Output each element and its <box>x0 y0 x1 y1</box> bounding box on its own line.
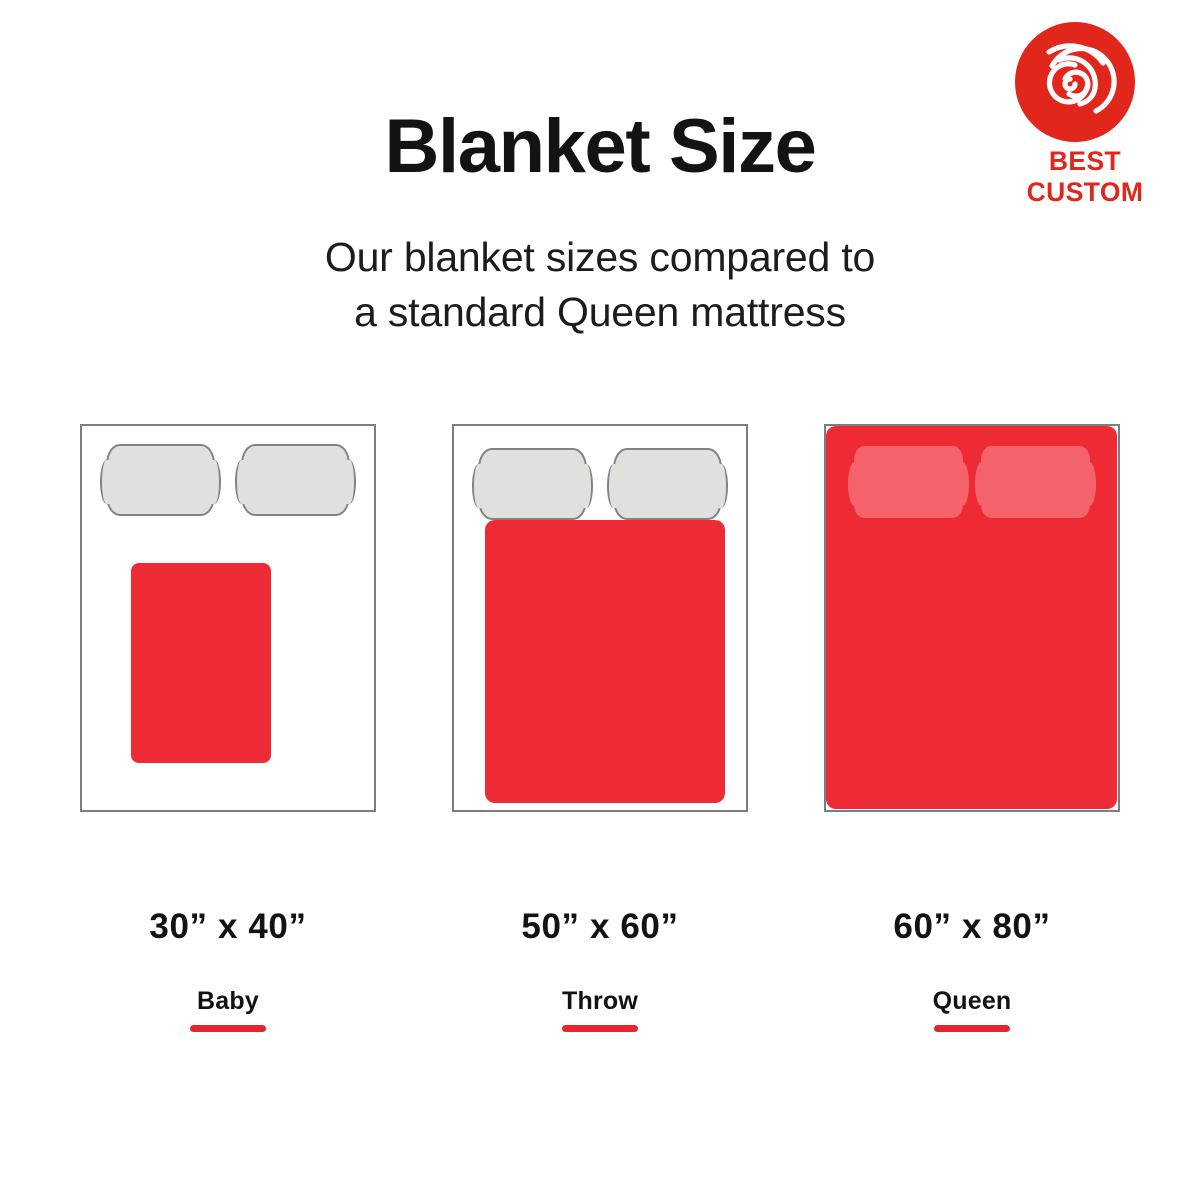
size-name-label: Baby <box>80 986 376 1016</box>
bed-diagram-throw <box>452 424 748 812</box>
pillow-left <box>478 448 587 520</box>
size-dimensions-label: 60” x 80” <box>824 906 1120 948</box>
accent-underline <box>562 1025 638 1032</box>
accent-underline <box>934 1025 1010 1032</box>
subtitle-line-1: Our blanket sizes compared to <box>0 230 1200 285</box>
bed-diagram-baby <box>80 424 376 812</box>
pillow-left <box>854 446 963 518</box>
pillow-right <box>241 444 350 516</box>
blanket-swatch-baby <box>131 563 271 763</box>
mattress-outline <box>824 424 1120 812</box>
pillow-right <box>981 446 1090 518</box>
pillow-left <box>106 444 215 516</box>
accent-underline <box>190 1025 266 1032</box>
blanket-swatch-throw <box>485 520 725 803</box>
mattress-outline <box>80 424 376 812</box>
mattress-outline <box>452 424 748 812</box>
subtitle-line-2: a standard Queen mattress <box>0 285 1200 340</box>
infographic-canvas: BEST CUSTOM Blanket Size Our blanket siz… <box>0 0 1200 1200</box>
bed-diagram-queen <box>824 424 1120 812</box>
caption-queen: 60” x 80” Queen <box>824 906 1120 1032</box>
size-name-label: Queen <box>824 986 1120 1016</box>
size-dimensions-label: 50” x 60” <box>452 906 748 948</box>
page-subtitle: Our blanket sizes compared to a standard… <box>0 230 1200 340</box>
page-title: Blanket Size <box>0 104 1200 190</box>
pillow-right <box>613 448 722 520</box>
size-name-label: Throw <box>452 986 748 1016</box>
caption-throw: 50” x 60” Throw <box>452 906 748 1032</box>
size-dimensions-label: 30” x 40” <box>80 906 376 948</box>
caption-baby: 30” x 40” Baby <box>80 906 376 1032</box>
